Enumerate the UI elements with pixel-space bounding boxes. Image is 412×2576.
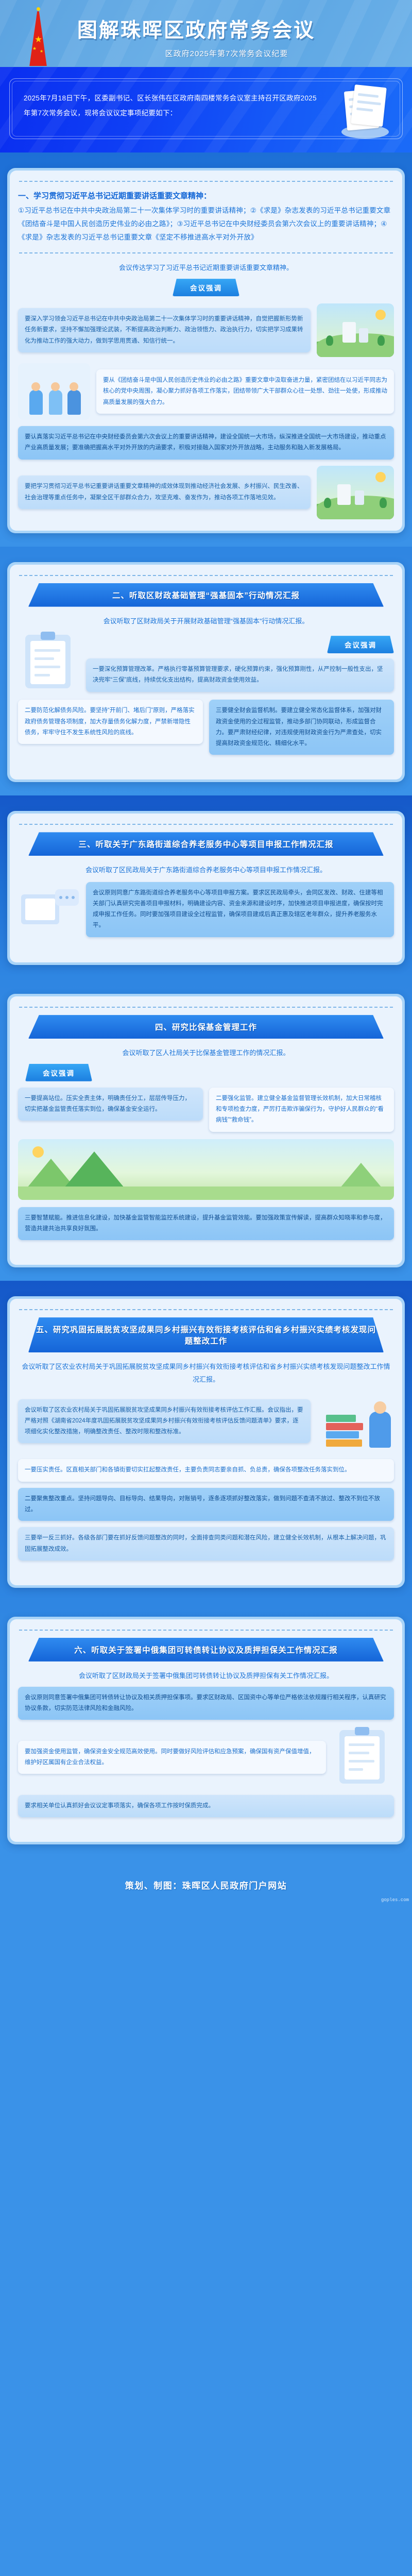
books-study-illustration [317,1390,394,1452]
section-4-title: 四、研究比保基金管理工作 [28,1015,384,1039]
section-5-block-3: 三要举一反三抓好。各级各部门要在抓好反馈问题整改的同时，全面排查同类问题和潜在风… [18,1527,394,1561]
city-landscape-illustration [317,466,394,519]
section-4-ribbon: 四、研究比保基金管理工作 [28,1015,384,1039]
china-flag-icon: ★★★ [23,7,54,67]
section-1-pill: 会议强调 [173,279,239,296]
section-6: 六、听取关于签署中俄集团可转债转让协议及质押担保关工作情况汇报 会议听取了区财政… [0,1601,412,1858]
section-4: 四、研究比保基金管理工作 会议听取了区人社局关于比保基金管理工作的情况汇报。 会… [0,978,412,1281]
section-5-note: 会议听取了区农业农村局关于巩固拓展脱贫攻坚成果同乡村振兴有效衔接考核评估和省乡村… [21,1361,391,1386]
section-1-block-0: 要深入学习领会习近平总书记在中共中央政治局第二十一次集体学习时的重要讲话精神，自… [18,308,311,352]
section-4-block-0: 一要提高站位。压实全责主体，明确责任分工，层层传导压力，切实把基金监管责任落实到… [18,1088,203,1121]
section-5-ribbon: 五、研究巩固拓展脱贫攻坚成果同乡村振兴有效衔接考核评估和省乡村振兴实绩考核发现问… [28,1317,384,1352]
finance-report-illustration [18,632,80,692]
document-stack-icon [337,82,393,140]
section-2-note: 会议听取了区财政局关于开展财政基础管理“强基固本”行动情况汇报。 [21,615,391,628]
meeting-scene-illustration [317,303,394,357]
section-1-title: 一、学习贯彻习近平总书记近期重要讲话重要文章精神： [18,189,394,204]
page-subtitle: 区政府2025年第7次常务会议纪要 [77,48,397,59]
section-6-note: 会议听取了区财政局关于签署中俄集团可转债转让协议及质押担保有关工作情况汇报。 [21,1670,391,1683]
section-5-block-2: 二要聚焦整改重点。坚持问题导向、目标导向、结果导向，对账销号，逐条逐项抓好整改落… [18,1488,394,1521]
section-6-block-0: 会议原则同意签署中俄集团可转债转让协议及相关质押担保事项。要求区财政局、区国资中… [18,1687,394,1720]
people-discussion-illustration [18,363,90,420]
section-2-ribbon: 二、听取区财政基础管理“强基固本”行动情况汇报 [28,583,384,607]
section-1-block-3: 要把学习贯彻习近平总书记重要讲话重要文章精神的成效体现到推动经济社会发展、乡村振… [18,476,311,509]
section-1-block-2: 要认真落实习近平总书记在中央财经委员会第六次会议上的重要讲话精神，建设全国统一大… [18,426,394,460]
page-header: ★★★ 图解珠晖区政府常务会议 区政府2025年第7次常务会议纪要 [0,0,412,67]
intro-text: 2025年7月18日下午，区委副书记、区长张伟在区政府南四楼常务会议室主持召开区… [24,91,322,121]
section-3-ribbon: 三、听取关于广东路街道综合养老服务中心等项目申报工作情况汇报 [28,832,384,856]
watermark: goples.com [381,1897,409,1903]
section-5-block-0: 会议听取了区农业农村局关于巩固拓展脱贫攻坚成果同乡村振兴有效衔接考核评估工作汇报… [18,1399,311,1444]
intro-banner: 2025年7月18日下午，区委副书记、区长张伟在区政府南四楼常务会议室主持召开区… [0,67,412,152]
section-2-pill: 会议强调 [327,636,394,653]
section-1: 一、学习贯彻习近平总书记近期重要讲话重要文章精神： ①习近平总书记在中共中央政治… [0,152,412,547]
section-1-body: ①习近平总书记在中共中央政治局第二十一次集体学习时的重要讲话精神；②《求是》杂志… [18,204,394,245]
contract-signing-illustration [332,1727,394,1788]
footer-credit: 策划、制图：珠晖区人民政府门户网站 [0,1878,412,1891]
project-review-illustration [18,881,80,938]
section-3: 三、听取关于广东路街道综合养老服务中心等项目申报工作情况汇报 会议听取了区民政局… [0,795,412,978]
section-2-block-2: 三要健全财会监督机制。要建立健全常态化监督体系，加强对财政资金使用的全过程监管，… [209,700,394,755]
section-5: 五、研究巩固拓展脱贫攻坚成果同乡村振兴有效衔接考核评估和省乡村振兴实绩考核发现问… [0,1281,412,1601]
section-3-title: 三、听取关于广东路街道综合养老服务中心等项目申报工作情况汇报 [28,832,384,856]
section-6-title: 六、听取关于签署中俄集团可转债转让协议及质押担保关工作情况汇报 [28,1638,384,1662]
section-1-note: 会议传达学习了习近平总书记近期重要讲话重要文章精神。 [21,262,391,275]
section-1-block-1: 要从《团结奋斗是中国人民创造历史伟业的必由之路》重要文章中汲取奋进力量，紧密团结… [96,369,394,414]
section-2-block-0: 一要深化预算管理改革。严格执行零基预算管理要求，硬化预算约束，强化预算刚性，从严… [86,658,394,692]
section-6-block-2: 要求相关单位认真抓好会议议定事项落实，确保各项工作按时保质完成。 [18,1795,394,1817]
section-2-title: 二、听取区财政基础管理“强基固本”行动情况汇报 [28,583,384,607]
section-2-block-1: 二要防范化解债务风险。要坚持“开前门、堵后门”原则，严格落实政府债务管理各项制度… [18,700,203,744]
section-6-block-1: 要加强资金使用监管，确保资金安全规范高效使用。同时要做好风险评估和应急预案，确保… [18,1741,326,1774]
page-footer: 策划、制图：珠晖区人民政府门户网站 goples.com [0,1858,412,1906]
section-4-block-1: 二要强化监管。建立健全基金监督管理长效机制，加大日常稽核和专项检查力度，严厉打击… [209,1088,394,1132]
section-4-note: 会议听取了区人社局关于比保基金管理工作的情况汇报。 [21,1047,391,1060]
section-3-note: 会议听取了区民政局关于广东路街道综合养老服务中心等项目申报工作情况汇报。 [21,864,391,877]
section-5-block-1: 一要压实责任。区直相关部门和各镇街要切实扛起整改责任，主要负责同志要亲自抓、负总… [18,1459,394,1481]
section-6-ribbon: 六、听取关于签署中俄集团可转债转让协议及质押担保关工作情况汇报 [28,1638,384,1662]
section-4-pill: 会议强调 [25,1064,92,1081]
mountain-landscape-illustration [18,1139,394,1200]
section-5-title: 五、研究巩固拓展脱贫攻坚成果同乡村振兴有效衔接考核评估和省乡村振兴实绩考核发现问… [28,1317,384,1352]
page-title: 图解珠晖区政府常务会议 [77,14,397,43]
section-2: 二、听取区财政基础管理“强基固本”行动情况汇报 会议听取了区财政局关于开展财政基… [0,547,412,796]
infographic-page: ★★★ 图解珠晖区政府常务会议 区政府2025年第7次常务会议纪要 2025年7… [0,0,412,1906]
section-3-block-0: 会议原则同意广东路街道综合养老服务中心等项目申报方案。要求区民政局牵头，会同区发… [86,882,394,937]
section-4-block-2: 三要智慧赋能。推进信息化建设，加快基金监管智能监控系统建设，提升基金监管效能。要… [18,1207,394,1241]
